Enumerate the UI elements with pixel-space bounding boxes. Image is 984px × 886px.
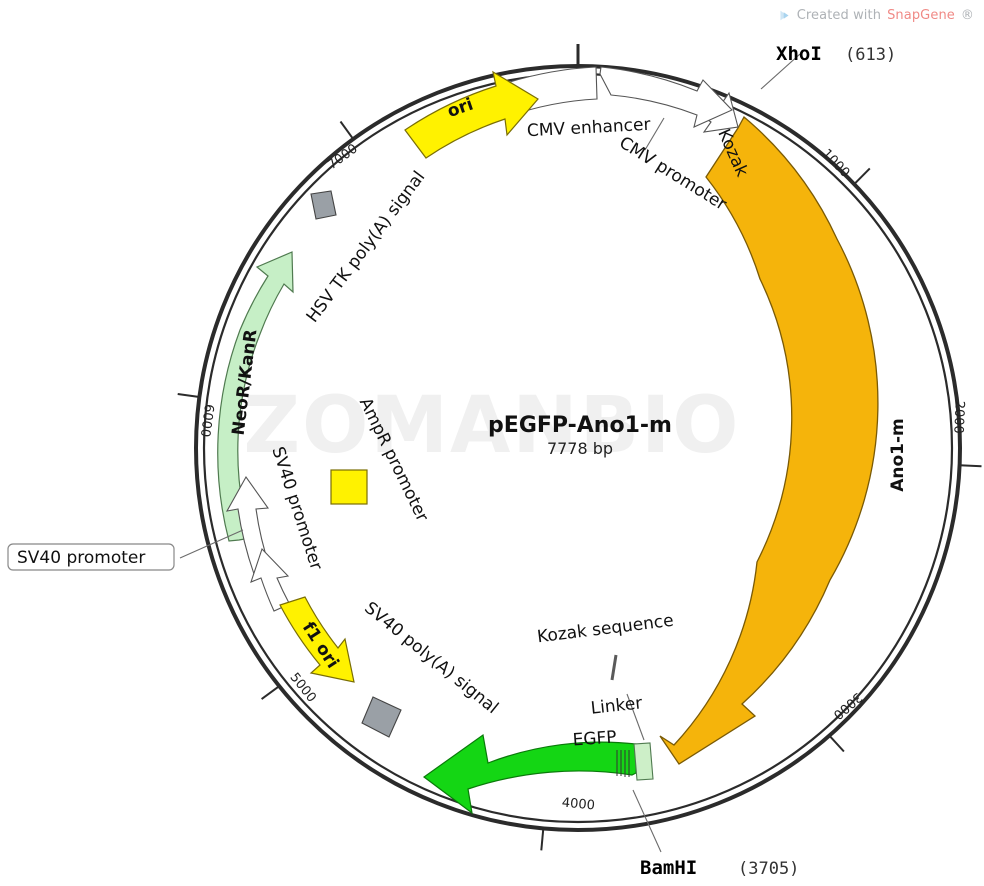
feature-hsv-tk-polya-signal[interactable]: HSV TK poly(A) signal xyxy=(303,167,430,326)
bamhi-position: (3705) xyxy=(738,859,799,879)
plasmid-name: pEGFP-Ano1-m xyxy=(488,413,672,438)
credit-prefix: Created with xyxy=(797,8,881,23)
sv40-polya-box[interactable] xyxy=(362,697,401,737)
tick-7000: 7000 xyxy=(325,122,361,173)
credit-registered-mark: ® xyxy=(961,8,974,23)
feature-sv40-polya-signal[interactable]: SV40 poly(A) signal xyxy=(360,598,502,737)
sv40-ori-box[interactable] xyxy=(331,470,367,504)
tick-2000: 2000 xyxy=(950,400,981,466)
hsv-tk-polya-label: HSV TK poly(A) signal xyxy=(303,167,430,326)
egfp-label: EGFP xyxy=(572,728,617,751)
kozak-sequence-marker[interactable] xyxy=(612,655,616,680)
plasmid-map-canvas: Created with SnapGene ® ZOMANBIO 1000 20… xyxy=(0,0,984,886)
bamhi-name: BamHI xyxy=(640,857,697,879)
feature-egfp[interactable]: EGFP xyxy=(424,728,636,813)
credit-brand: SnapGene xyxy=(887,8,955,23)
plasmid-svg: ZOMANBIO 1000 2000 3000 xyxy=(0,0,984,886)
tick-label-4000: 4000 xyxy=(561,796,595,814)
snapgene-logo-icon xyxy=(778,9,791,22)
snapgene-credit: Created with SnapGene ® xyxy=(778,8,974,23)
tick-1000: 1000 xyxy=(819,146,870,184)
xhoi-position: (613) xyxy=(845,45,896,65)
tick-label-2000: 2000 xyxy=(950,400,966,434)
feature-f1-ori[interactable]: f1 ori xyxy=(280,597,354,682)
plasmid-size: 7778 bp xyxy=(547,439,613,458)
feature-cmv-promoter[interactable]: CMV promoter xyxy=(600,67,732,215)
restriction-site-xhoi[interactable]: XhoI (613) xyxy=(761,43,896,89)
kozak-sequence-label: Kozak sequence xyxy=(536,611,675,648)
feature-kozak-sequence[interactable]: Kozak sequence xyxy=(536,611,675,680)
sv40-promoter-callout-label: SV40 promoter xyxy=(17,548,145,568)
hsv-tk-polya-box[interactable] xyxy=(311,191,336,219)
ano1-m-label: Ano1-m xyxy=(888,418,908,492)
xhoi-name: XhoI xyxy=(776,43,822,65)
sv40-promoter-boxed-callout[interactable]: SV40 promoter xyxy=(8,544,174,570)
sv40-polya-label: SV40 poly(A) signal xyxy=(360,598,502,718)
linker-box[interactable] xyxy=(634,743,653,780)
